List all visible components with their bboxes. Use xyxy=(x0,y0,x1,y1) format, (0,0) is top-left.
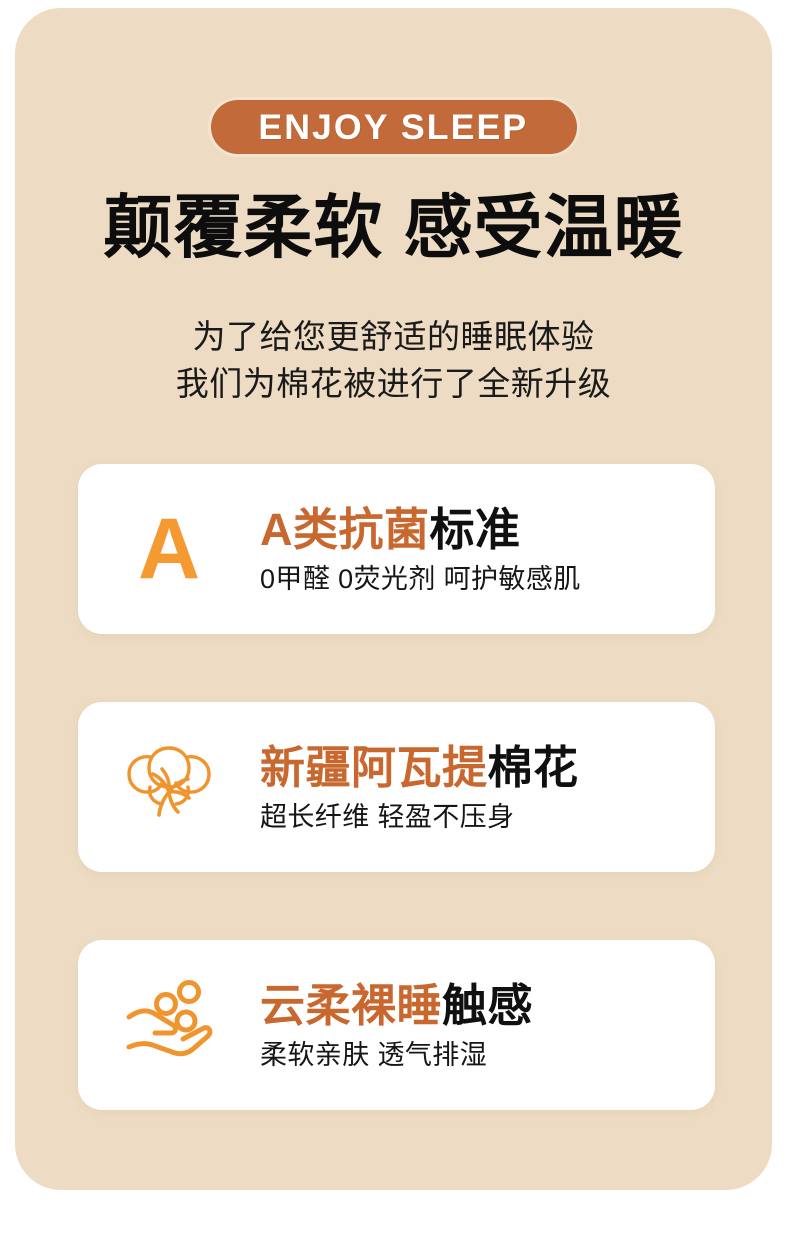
subtitle-line-1: 为了给您更舒适的睡眠体验 xyxy=(15,314,772,361)
page-title: 颠覆柔软 感受温暖 xyxy=(15,191,772,266)
card-title-rest: 标准 xyxy=(430,504,521,555)
card-title-accent: 云柔裸睡 xyxy=(260,980,442,1031)
feature-card-list: A A类抗菌标准 0甲醛 0荧光剂 呵护敏感肌 xyxy=(78,464,718,1178)
feature-card[interactable]: 云柔裸睡触感 柔软亲肤 透气排湿 xyxy=(78,940,715,1110)
card-title-accent: A类抗菌 xyxy=(260,504,430,555)
beige-panel: ENJOY SLEEP 颠覆柔软 感受温暖 为了给您更舒适的睡眠体验 我们为棉花… xyxy=(15,8,772,1190)
feature-card[interactable]: A A类抗菌标准 0甲醛 0荧光剂 呵护敏感肌 xyxy=(78,464,715,634)
card-icon-slot xyxy=(78,702,260,872)
product-feature-page: ENJOY SLEEP 颠覆柔软 感受温暖 为了给您更舒适的睡眠体验 我们为棉花… xyxy=(0,0,790,1236)
letter-a-icon: A xyxy=(138,506,200,592)
card-subtitle: 0甲醛 0荧光剂 呵护敏感肌 xyxy=(260,563,581,595)
card-body: 云柔裸睡触感 柔软亲肤 透气排湿 xyxy=(260,979,533,1071)
card-title-rest: 触感 xyxy=(442,980,533,1031)
cotton-boll-icon xyxy=(117,735,221,839)
badge-container: ENJOY SLEEP xyxy=(15,100,772,154)
card-title-rest: 棉花 xyxy=(488,742,579,793)
card-icon-slot xyxy=(78,940,260,1110)
card-body: 新疆阿瓦提棉花 超长纤维 轻盈不压身 xyxy=(260,741,579,833)
card-body: A类抗菌标准 0甲醛 0荧光剂 呵护敏感肌 xyxy=(260,503,581,595)
hand-bubbles-icon xyxy=(117,973,221,1077)
card-subtitle: 超长纤维 轻盈不压身 xyxy=(260,801,579,833)
subtitle-block: 为了给您更舒适的睡眠体验 我们为棉花被进行了全新升级 xyxy=(15,314,772,408)
card-title: 云柔裸睡触感 xyxy=(260,981,533,1031)
card-title: A类抗菌标准 xyxy=(260,505,581,555)
card-title: 新疆阿瓦提棉花 xyxy=(260,743,579,793)
enjoy-sleep-badge: ENJOY SLEEP xyxy=(211,100,577,154)
badge-label: ENJOY SLEEP xyxy=(259,110,529,145)
card-icon-slot: A xyxy=(78,464,260,634)
card-subtitle: 柔软亲肤 透气排湿 xyxy=(260,1039,533,1071)
subtitle-line-2: 我们为棉花被进行了全新升级 xyxy=(15,361,772,408)
card-title-accent: 新疆阿瓦提 xyxy=(260,742,488,793)
feature-card[interactable]: 新疆阿瓦提棉花 超长纤维 轻盈不压身 xyxy=(78,702,715,872)
